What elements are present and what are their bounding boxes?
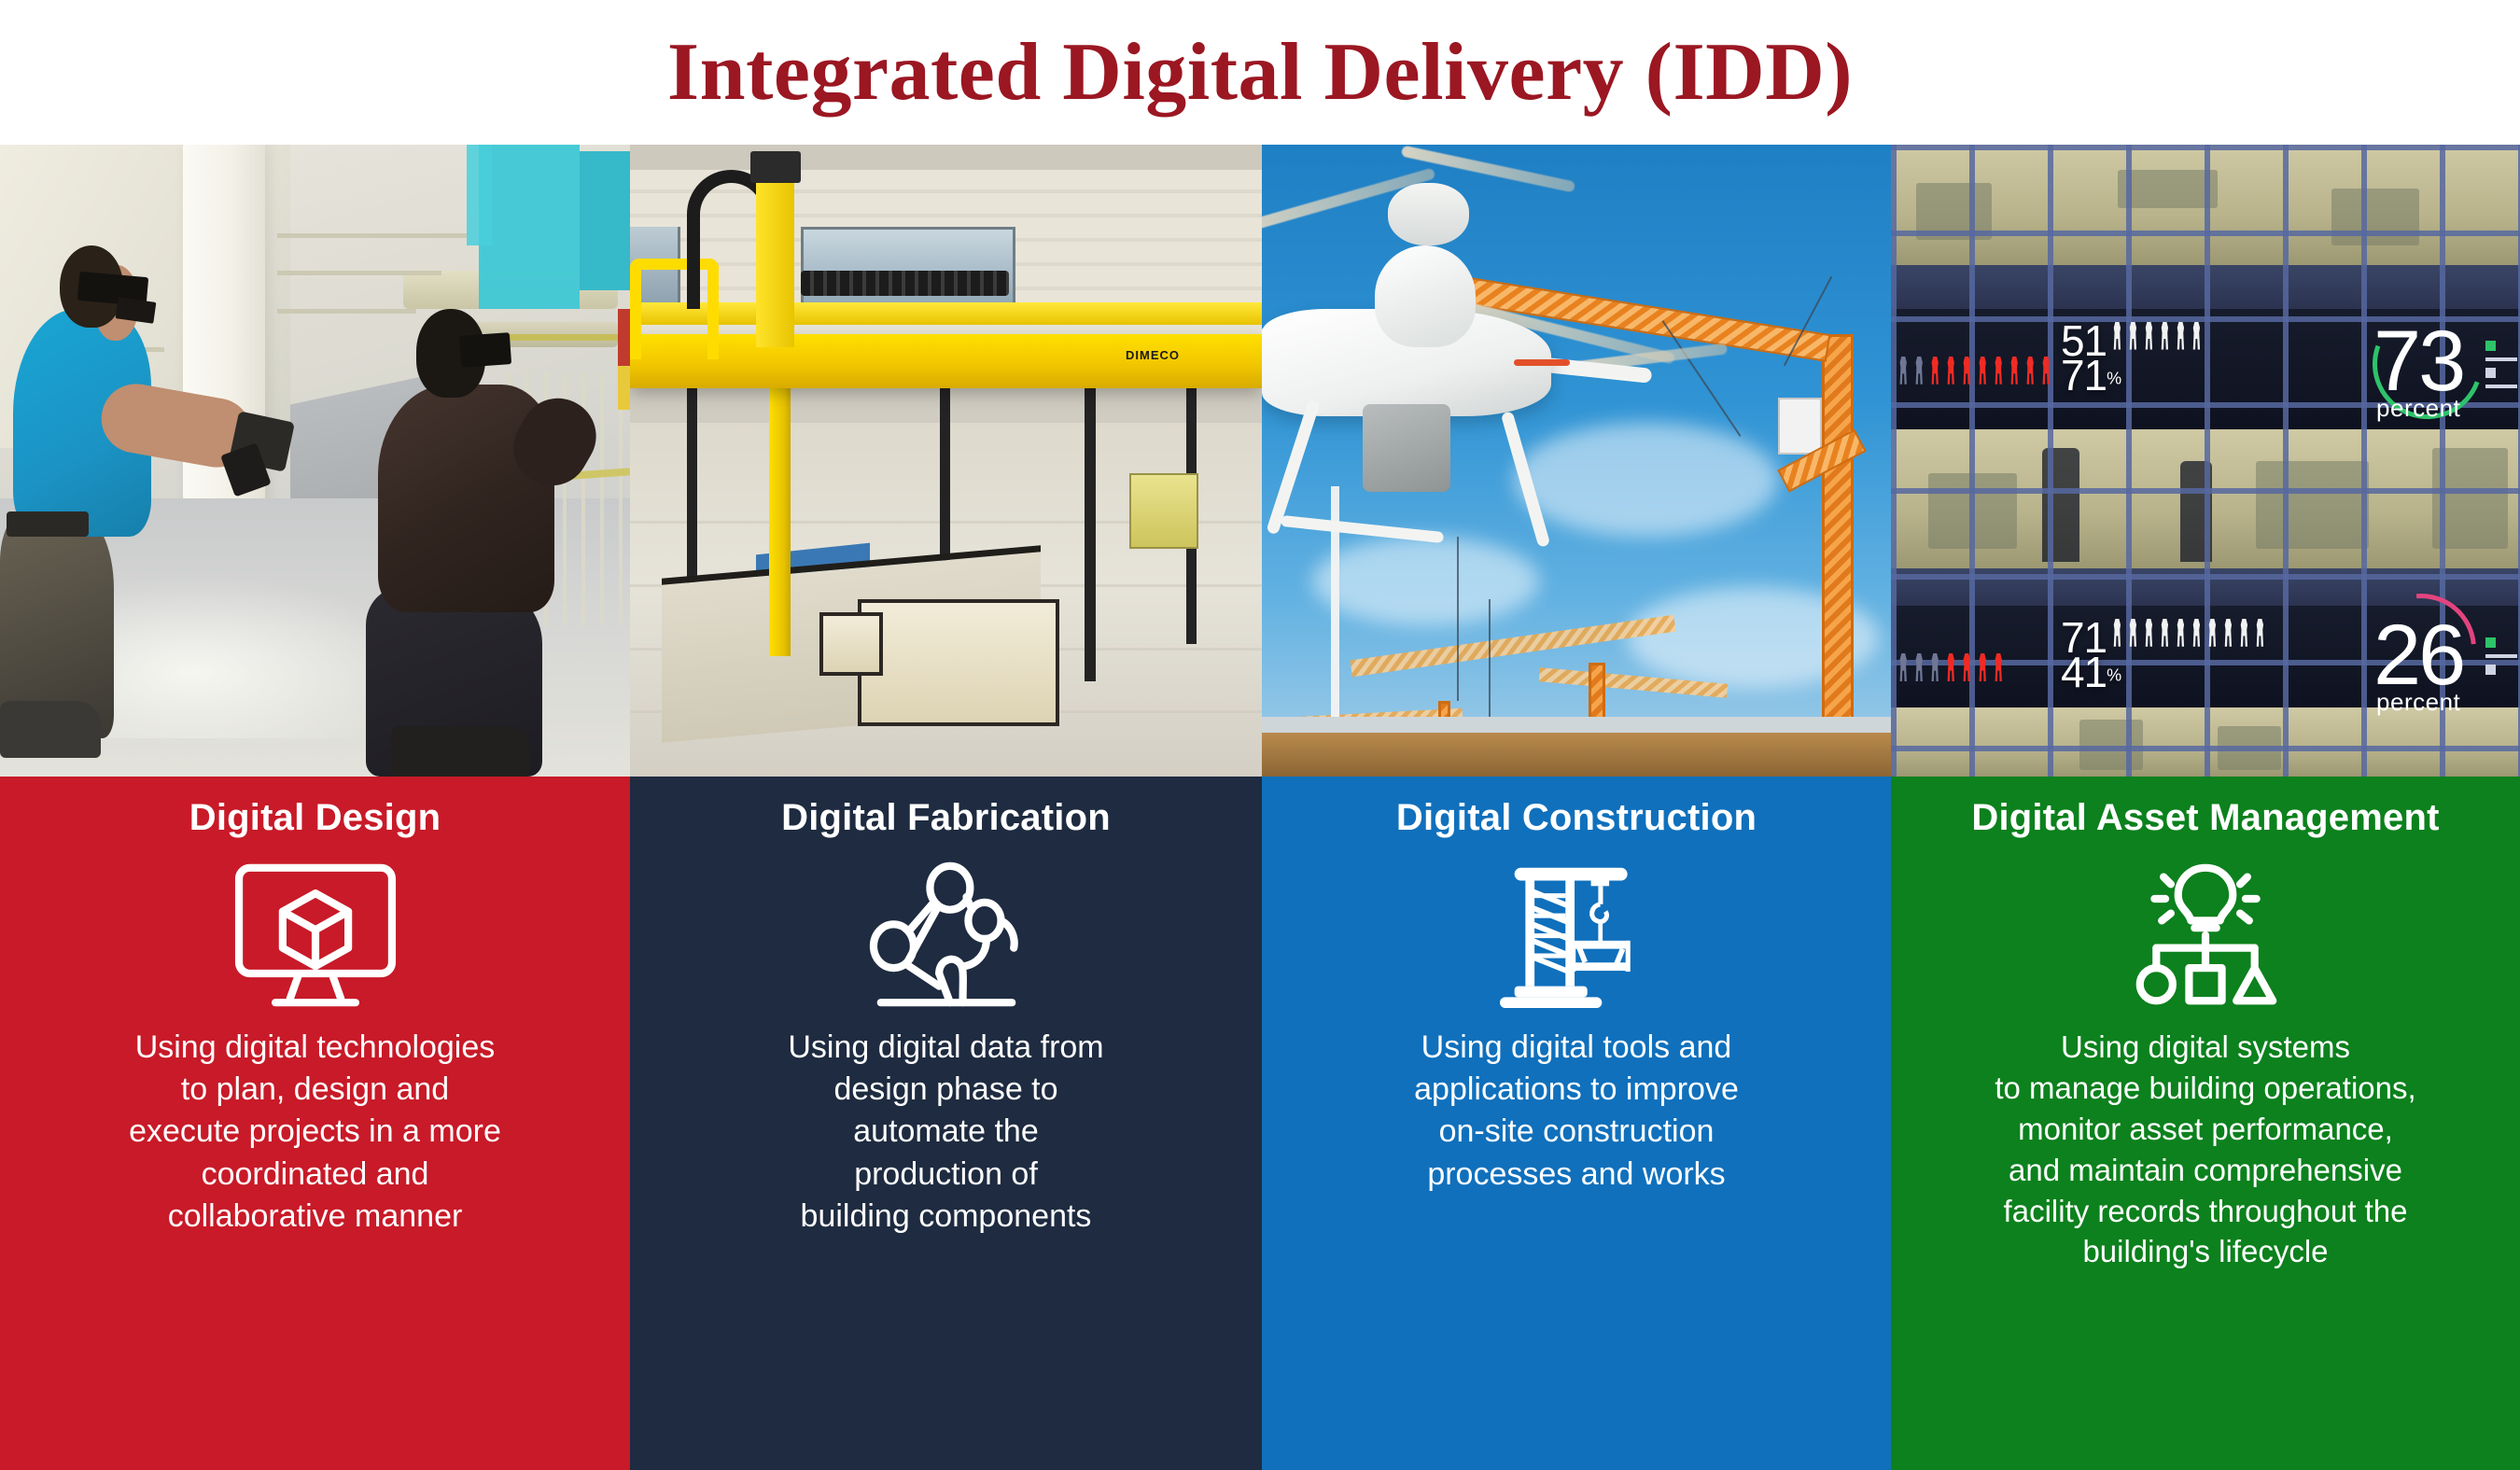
performance-donut-bottom: 26 percent <box>2373 619 2463 717</box>
pillar-title: Digital Design <box>13 797 617 838</box>
pillar-body-digital-asset-management: Digital Asset Management <box>1891 777 2520 1470</box>
idd-overview-slide: Integrated Digital Delivery (IDD) <box>0 0 2520 1470</box>
pillar-title: Digital Fabrication <box>643 797 1249 838</box>
monitor-cube-icon <box>13 851 617 1019</box>
dashboard-legend-bottom <box>2485 637 2517 675</box>
pillar-card-digital-construction[interactable]: Digital Construction <box>1262 145 1891 1470</box>
pillar-description: Using digital systems to manage building… <box>1904 1027 2507 1272</box>
capacity-pictogram-row2 <box>2111 619 2266 647</box>
occupancy-pictogram-row1 <box>1897 357 2052 385</box>
smart-building-dashboard-photo: 51 71% 73 percent <box>1891 145 2520 777</box>
pillar-card-digital-design[interactable]: Digital Design Using digital technologie… <box>0 145 630 1470</box>
idd-pillars-grid: Digital Design Using digital technologie… <box>0 145 2520 1470</box>
pillar-title: Digital Construction <box>1275 797 1878 838</box>
occupancy-pictogram-row2 <box>1897 653 2005 681</box>
pillar-body-digital-design: Digital Design Using digital technologie… <box>0 777 630 1470</box>
machine-brand-label: DIMECO <box>1126 348 1180 362</box>
pillar-body-digital-construction: Digital Construction <box>1262 777 1891 1470</box>
dashboard-legend-top <box>2485 341 2517 388</box>
capacity-pictogram-row1 <box>2111 322 2203 350</box>
pillar-body-digital-fabrication: Digital Fabrication <box>630 777 1262 1470</box>
pillar-title: Digital Asset Management <box>1904 797 2507 838</box>
tower-crane-icon <box>1275 851 1878 1019</box>
pillar-card-digital-fabrication[interactable]: DIMECO Digital Fabrication <box>630 145 1262 1470</box>
robot-arm-icon <box>643 851 1249 1019</box>
lightbulb-hierarchy-icon <box>1904 851 2507 1019</box>
occupancy-stat-row1-secondary: 71% <box>2061 357 2121 395</box>
slide-header: Integrated Digital Delivery (IDD) <box>0 0 2520 145</box>
pillar-description: Using digital data from design phase to … <box>643 1027 1249 1238</box>
occupancy-stat-row2-secondary: 41% <box>2061 653 2121 692</box>
gantry-fabrication-robot-photo: DIMECO <box>630 145 1262 777</box>
page-title: Integrated Digital Delivery (IDD) <box>667 25 1853 119</box>
pillar-card-digital-asset-management[interactable]: 51 71% 73 percent <box>1891 145 2520 1470</box>
pillar-description: Using digital technologies to plan, desi… <box>13 1027 617 1238</box>
vr-design-review-photo <box>0 145 630 777</box>
site-survey-drone-photo <box>1262 145 1891 777</box>
performance-donut-top: 73 percent <box>2373 325 2463 423</box>
pillar-description: Using digital tools and applications to … <box>1275 1027 1878 1196</box>
